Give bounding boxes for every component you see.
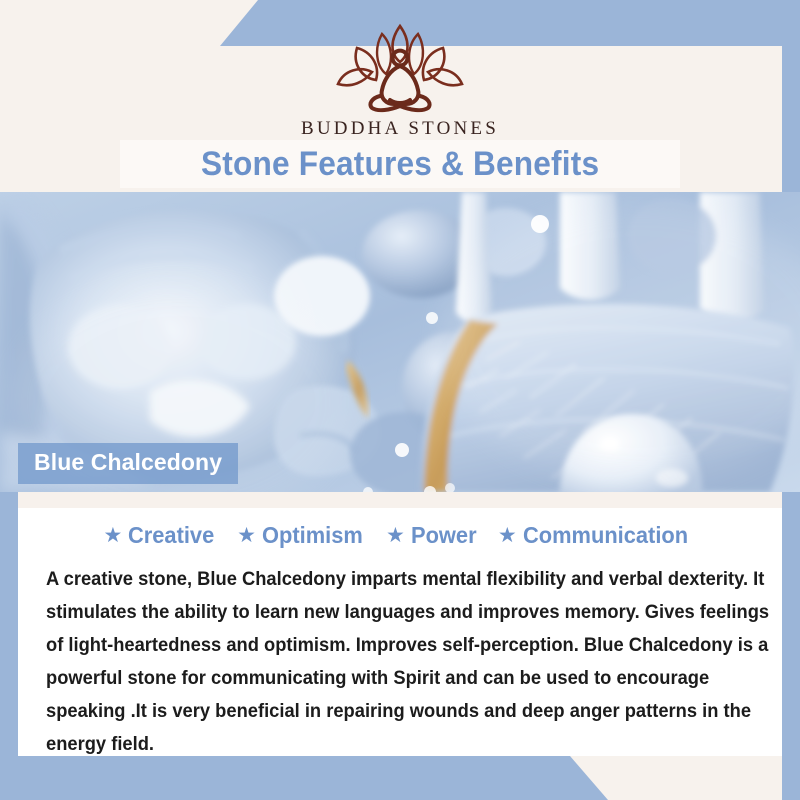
keyword-item-power: ★ Power (386, 522, 480, 549)
lotus-meditation-figure-icon (324, 22, 476, 114)
description-text: A creative stone, Blue Chalcedony impart… (46, 563, 778, 761)
keyword-item-optimism: ★ Optimism (237, 522, 368, 549)
brand-name: BUDDHA STONES (301, 118, 499, 140)
keyword-item-communication: ★ Communication (498, 522, 697, 549)
page-title: Stone Features & Benefits (201, 145, 599, 184)
star-icon: ★ (104, 525, 123, 546)
infographic-page: BUDDHA STONES Stone Features & Benefits (0, 0, 800, 800)
left-edge-accent-bar (0, 492, 18, 800)
title-banner: Stone Features & Benefits (120, 140, 680, 188)
star-icon: ★ (386, 525, 405, 546)
stone-name-label: Blue Chalcedony (18, 443, 238, 484)
keyword-label: Power (411, 522, 477, 549)
star-icon: ★ (498, 525, 517, 546)
keyword-list: ★ Creative ★ Optimism ★ Power ★ Communic… (32, 522, 768, 549)
star-icon: ★ (237, 525, 256, 546)
keyword-label: Optimism (262, 522, 363, 549)
bottom-left-accent-wedge (0, 756, 608, 800)
keyword-label: Communication (523, 522, 688, 549)
hero-photo: Blue Chalcedony (0, 192, 800, 492)
keyword-label: Creative (128, 522, 214, 549)
keyword-item-creative: ★ Creative (104, 522, 220, 549)
card-top-strip (18, 492, 782, 508)
brand-logo: BUDDHA STONES (0, 22, 800, 142)
content-card: ★ Creative ★ Optimism ★ Power ★ Communic… (18, 492, 782, 756)
